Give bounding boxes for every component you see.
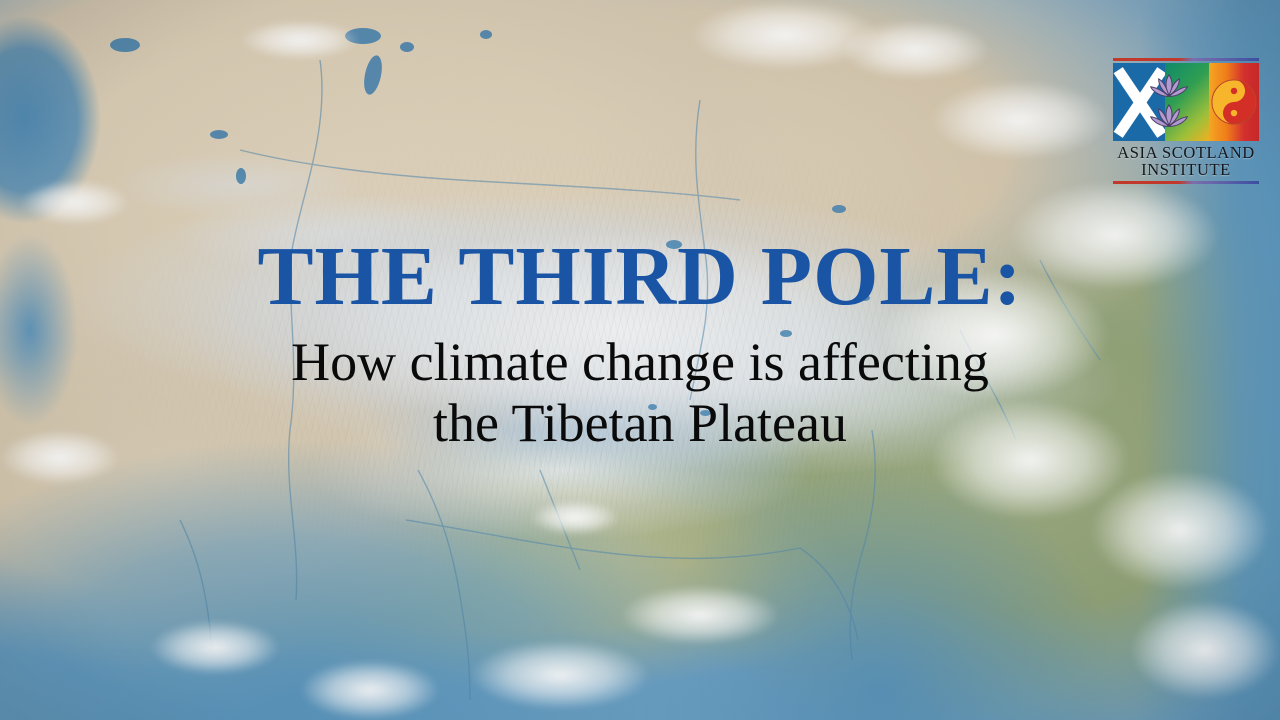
logo-rule-top bbox=[1113, 58, 1259, 61]
logo-text-line-1: ASIA SCOTLAND bbox=[1113, 144, 1259, 161]
title-card-frame: THE THIRD POLE: How climate change is af… bbox=[0, 0, 1280, 720]
asia-scotland-institute-logo: ASIA SCOTLAND INSTITUTE bbox=[1113, 58, 1259, 194]
logo-emblem bbox=[1113, 63, 1259, 141]
lotus-flower-icon bbox=[1149, 73, 1189, 99]
logo-text-line-2: INSTITUTE bbox=[1113, 161, 1259, 178]
logo-rule-bottom bbox=[1113, 181, 1259, 184]
lotus-flower-icon bbox=[1149, 103, 1189, 129]
map-color-grade bbox=[0, 0, 1280, 720]
yin-yang-icon bbox=[1209, 63, 1259, 141]
logo-wordmark: ASIA SCOTLAND INSTITUTE bbox=[1113, 141, 1259, 178]
